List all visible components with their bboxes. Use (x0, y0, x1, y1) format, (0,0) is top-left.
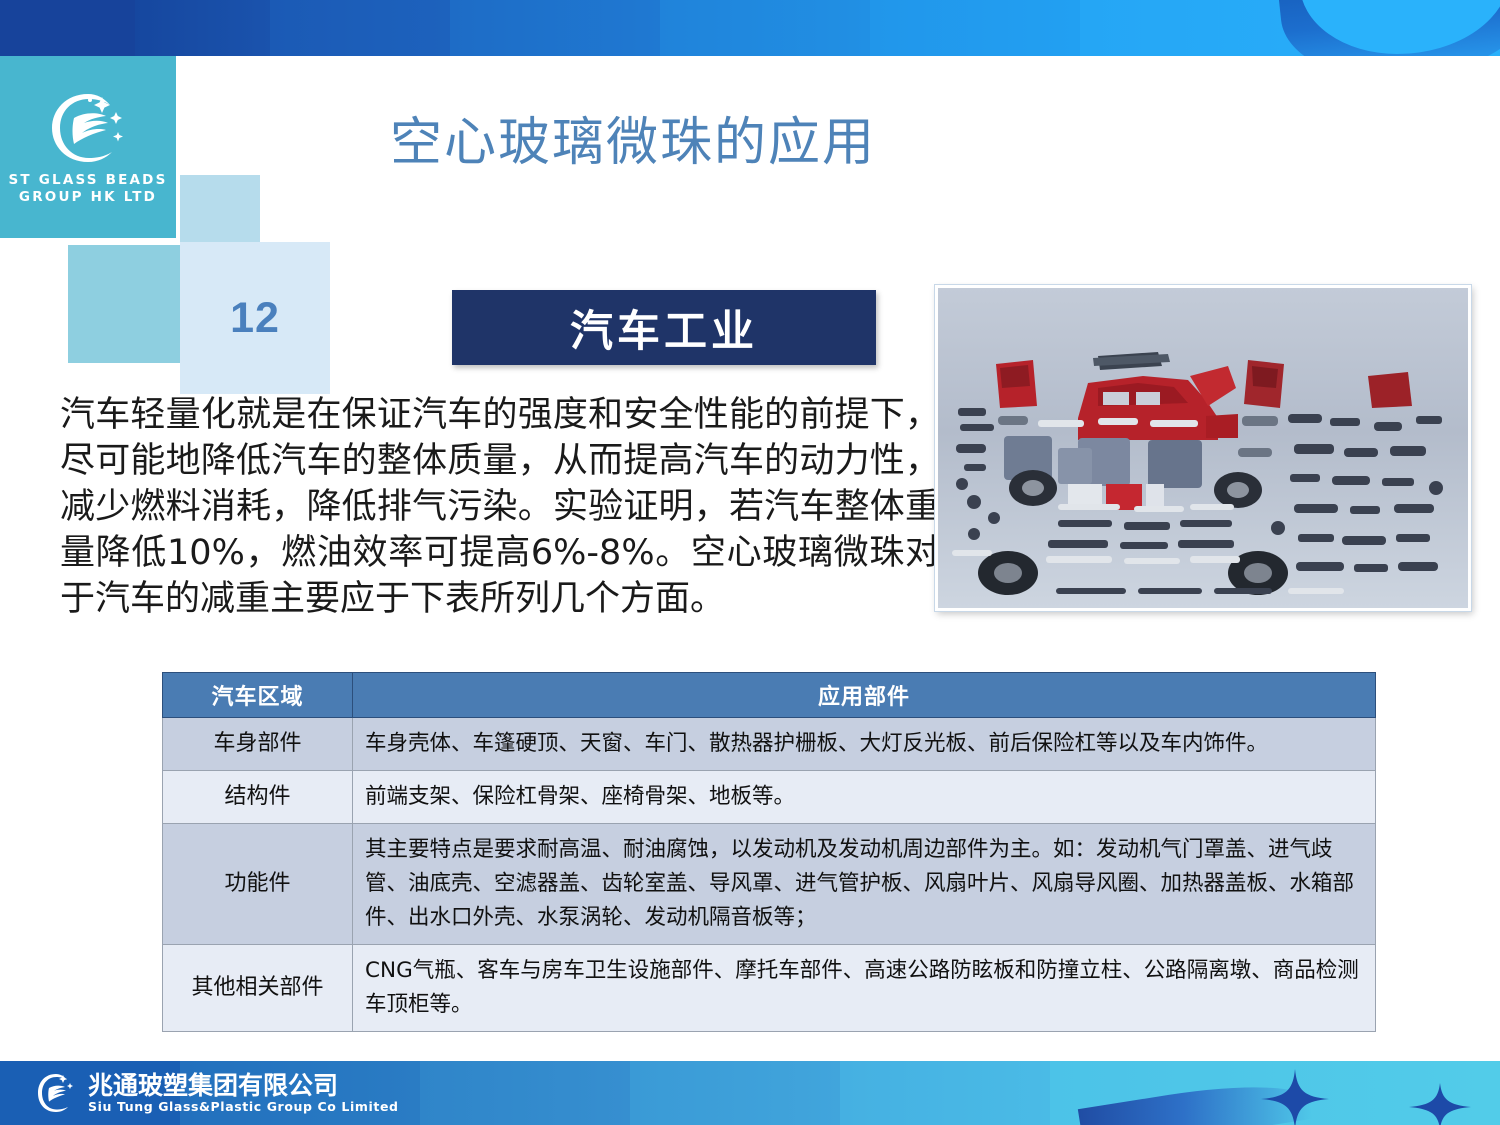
footer-company-en: Siu Tung Glass&Plastic Group Co Limited (88, 1099, 399, 1114)
section-number-badge: 12 (180, 242, 330, 394)
table-row: 功能件 其主要特点是要求耐高温、耐油腐蚀，以发动机及发动机周边部件为主。如：发动… (163, 824, 1376, 945)
table-header-row: 汽车区域 应用部件 (163, 673, 1376, 718)
footer-bar: 兆通玻塑集团有限公司 Siu Tung Glass&Plastic Group … (0, 1061, 1500, 1125)
top-banner-decoration (0, 0, 1500, 56)
car-parts-photo-image (938, 288, 1468, 608)
company-logo-box: ST GLASS BEADS GROUP HK LTD (0, 56, 176, 238)
table-cell-region: 车身部件 (163, 718, 353, 771)
decor-square-light (180, 175, 260, 245)
table-cell-parts: 前端支架、保险杠骨架、座椅骨架、地板等。 (353, 771, 1376, 824)
table-cell-parts: 其主要特点是要求耐高温、耐油腐蚀，以发动机及发动机周边部件为主。如：发动机气门罩… (353, 824, 1376, 945)
footer-sparkle-icon-small (1405, 1083, 1475, 1125)
table-cell-region: 结构件 (163, 771, 353, 824)
crescent-sparkle-logo-icon (34, 1071, 78, 1115)
table-header-region: 汽车区域 (163, 673, 353, 718)
crescent-sparkle-logo-icon (40, 88, 136, 168)
table-row: 车身部件 车身壳体、车篷硬顶、天窗、车门、散热器护栅板、大灯反光板、前后保险杠等… (163, 718, 1376, 771)
logo-text-line1: ST GLASS BEADS (9, 172, 168, 189)
table-row: 结构件 前端支架、保险杠骨架、座椅骨架、地板等。 (163, 771, 1376, 824)
footer-brand: 兆通玻塑集团有限公司 Siu Tung Glass&Plastic Group … (34, 1071, 399, 1115)
section-banner-label: 汽车工业 (570, 297, 758, 359)
footer-swoosh-shape (1078, 1073, 1312, 1125)
table-cell-parts: 车身壳体、车篷硬顶、天窗、车门、散热器护栅板、大灯反光板、前后保险杠等以及车内饰… (353, 718, 1376, 771)
table-row: 其他相关部件 CNG气瓶、客车与房车卫生设施部件、摩托车部件、高速公路防眩板和防… (163, 945, 1376, 1032)
footer-company-cn: 兆通玻塑集团有限公司 (88, 1072, 399, 1099)
section-banner: 汽车工业 (452, 290, 876, 365)
footer-company-text: 兆通玻塑集团有限公司 Siu Tung Glass&Plastic Group … (88, 1072, 399, 1114)
logo-text-line2: GROUP HK LTD (19, 189, 157, 206)
table-cell-region: 其他相关部件 (163, 945, 353, 1032)
slide-root: ST GLASS BEADS GROUP HK LTD 12 空心玻璃微珠的应用… (0, 0, 1500, 1125)
page-title: 空心玻璃微珠的应用 (390, 112, 876, 174)
body-paragraph: 汽车轻量化就是在保证汽车的强度和安全性能的前提下，尽可能地降低汽车的整体质量，从… (60, 392, 940, 622)
decor-square-teal (68, 245, 186, 363)
table-cell-parts: CNG气瓶、客车与房车卫生设施部件、摩托车部件、高速公路防眩板和防撞立柱、公路隔… (353, 945, 1376, 1032)
application-table: 汽车区域 应用部件 车身部件 车身壳体、车篷硬顶、天窗、车门、散热器护栅板、大灯… (162, 672, 1376, 1032)
table-cell-region: 功能件 (163, 824, 353, 945)
car-parts-photo (935, 285, 1471, 611)
table-header-parts: 应用部件 (353, 673, 1376, 718)
